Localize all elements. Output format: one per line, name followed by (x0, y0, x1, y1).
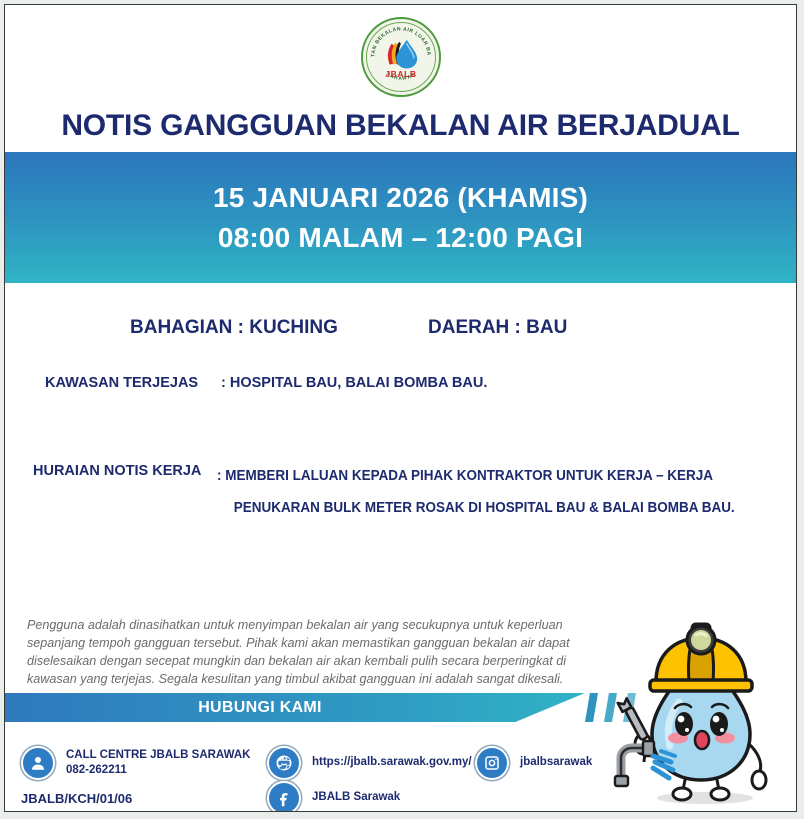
huraian-line2: PENUKARAN BULK METER ROSAK DI HOSPITAL B… (217, 493, 735, 525)
globe-icon[interactable] (267, 746, 301, 780)
contact-bar-title: HUBUNGI KAMI (198, 699, 322, 717)
website-text[interactable]: https://jbalb.sarawak.gov.my/ (312, 755, 472, 770)
huraian-label: HURAIAN NOTIS KERJA (33, 463, 201, 479)
call-centre-text: CALL CENTRE JBALB SARAWAK 082-262211 (66, 748, 250, 778)
date-banner: 15 JANUARI 2026 (KHAMIS) 08:00 MALAM – 1… (5, 152, 796, 283)
instagram-text[interactable]: jbalbsarawak (520, 755, 592, 770)
contact-bar-band: HUBUNGI KAMI (5, 693, 585, 722)
daerah-text: DAERAH : BAU (428, 317, 567, 339)
contact-website[interactable]: https://jbalb.sarawak.gov.my/ (267, 746, 472, 780)
page-title: NOTIS GANGGUAN BEKALAN AIR BERJADUAL (5, 109, 796, 143)
facebook-icon[interactable] (267, 781, 301, 812)
banner-time: 08:00 MALAM – 12:00 PAGI (218, 218, 583, 258)
contact-instagram[interactable]: jbalbsarawak (475, 746, 592, 780)
disclaimer-text: Pengguna adalah dinasihatkan untuk menyi… (27, 617, 599, 689)
reference-code: JBALB/KCH/01/06 (21, 791, 132, 806)
contact-facebook[interactable]: JBALB Sarawak (267, 781, 400, 812)
banner-date: 15 JANUARI 2026 (KHAMIS) (213, 178, 588, 218)
call-centre-line1: CALL CENTRE JBALB SARAWAK (66, 748, 250, 763)
call-centre-line2: 082-262211 (66, 763, 250, 778)
kawasan-label: KAWASAN TERJEJAS (45, 375, 198, 391)
huraian-value: : MEMBERI LALUAN KEPADA PIHAK KONTRAKTOR… (217, 461, 735, 525)
instagram-icon[interactable] (475, 746, 509, 780)
contact-bar: HUBUNGI KAMI (5, 693, 665, 722)
jbalb-logo: JABATAN BEKALAN AIR LUAR BANDAR SARAWAK … (361, 17, 441, 97)
huraian-line1: : MEMBERI LALUAN KEPADA PIHAK KONTRAKTOR… (217, 468, 713, 484)
person-icon (21, 746, 55, 780)
svg-text:JBALB: JBALB (385, 69, 416, 79)
notice-page: JABATAN BEKALAN AIR LUAR BANDAR SARAWAK … (4, 4, 797, 812)
bahagian-text: BAHAGIAN : KUCHING (130, 317, 338, 339)
kawasan-value: : HOSPITAL BAU, BALAI BOMBA BAU. (221, 375, 487, 391)
water-droplet-mascot (613, 610, 788, 810)
facebook-text[interactable]: JBALB Sarawak (312, 790, 400, 805)
logo-container: JABATAN BEKALAN AIR LUAR BANDAR SARAWAK … (5, 17, 796, 97)
contact-call-centre: CALL CENTRE JBALB SARAWAK 082-262211 (21, 746, 250, 780)
decor-slash-1 (585, 693, 598, 722)
